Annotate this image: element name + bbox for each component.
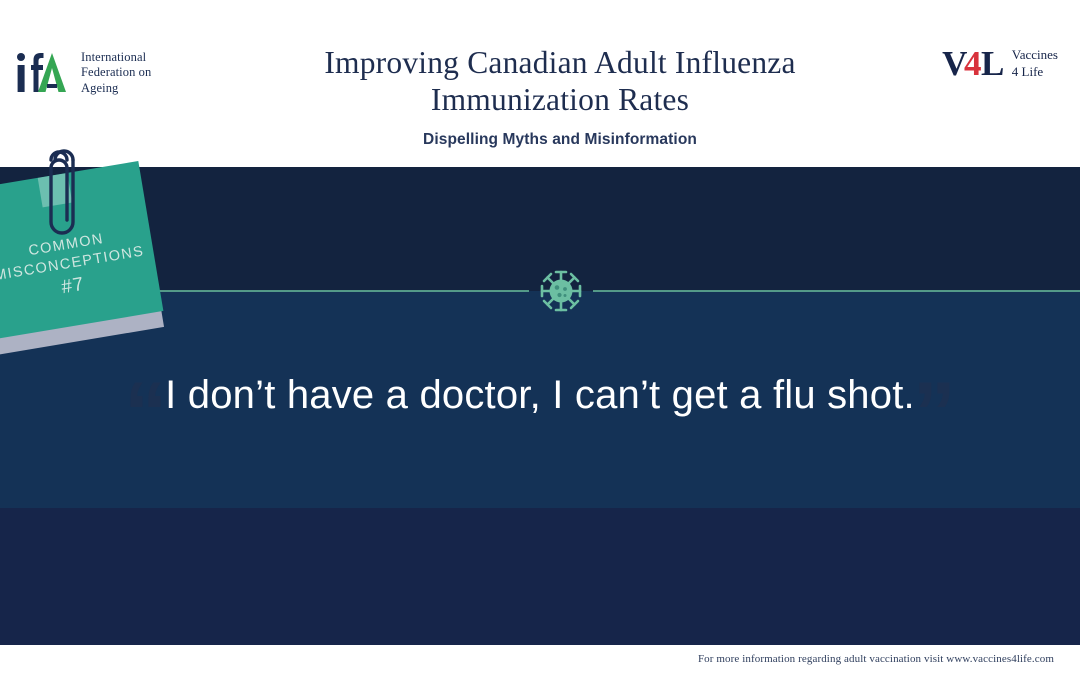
ifa-logo: International Federation on Ageing [14, 44, 234, 102]
quote-block: “ I don’t have a doctor, I can’t get a f… [0, 352, 1080, 438]
quote-open-mark: “ [124, 370, 167, 456]
slide-header: International Federation on Ageing Impro… [0, 0, 1080, 167]
vaccines-4-life-logo: V4L Vaccines 4 Life [942, 46, 1058, 81]
v4l-words-line1: Vaccines [1012, 47, 1058, 63]
v4l-monogram-icon: V4L [942, 46, 1004, 81]
background-band-bottom [0, 508, 1080, 645]
ifa-logo-line1: International [81, 50, 151, 65]
page-subtitle: Dispelling Myths and Misinformation [230, 131, 890, 149]
ifa-logo-line3: Ageing [81, 81, 151, 96]
page-title-line2: Immunization Rates [431, 82, 689, 117]
ifa-monogram-icon [14, 48, 72, 98]
slide: International Federation on Ageing Impro… [0, 0, 1080, 675]
slide-footer: For more information regarding adult vac… [0, 645, 1080, 675]
quote-text: I don’t have a doctor, I can’t get a flu… [165, 373, 915, 417]
page-title: Improving Canadian Adult Influenza Immun… [230, 44, 890, 119]
page-title-line1: Improving Canadian Adult Influenza [324, 45, 795, 80]
v4l-letter-l: L [981, 44, 1004, 83]
sticky-note: COMMON MISCONCEPTIONS #7 [0, 168, 172, 358]
quote-close-mark: ” [913, 370, 956, 456]
ifa-logo-line2: Federation on [81, 65, 151, 80]
section-divider [143, 290, 1080, 292]
paperclip-icon [40, 148, 90, 253]
v4l-logo-text: Vaccines 4 Life [1012, 47, 1058, 80]
footer-text: For more information regarding adult vac… [698, 653, 1054, 665]
ifa-logo-text: International Federation on Ageing [81, 50, 151, 96]
virus-icon [538, 268, 584, 314]
title-block: Improving Canadian Adult Influenza Immun… [230, 44, 890, 149]
v4l-words-line2: 4 Life [1012, 64, 1058, 80]
v4l-letter-4: 4 [964, 44, 981, 83]
